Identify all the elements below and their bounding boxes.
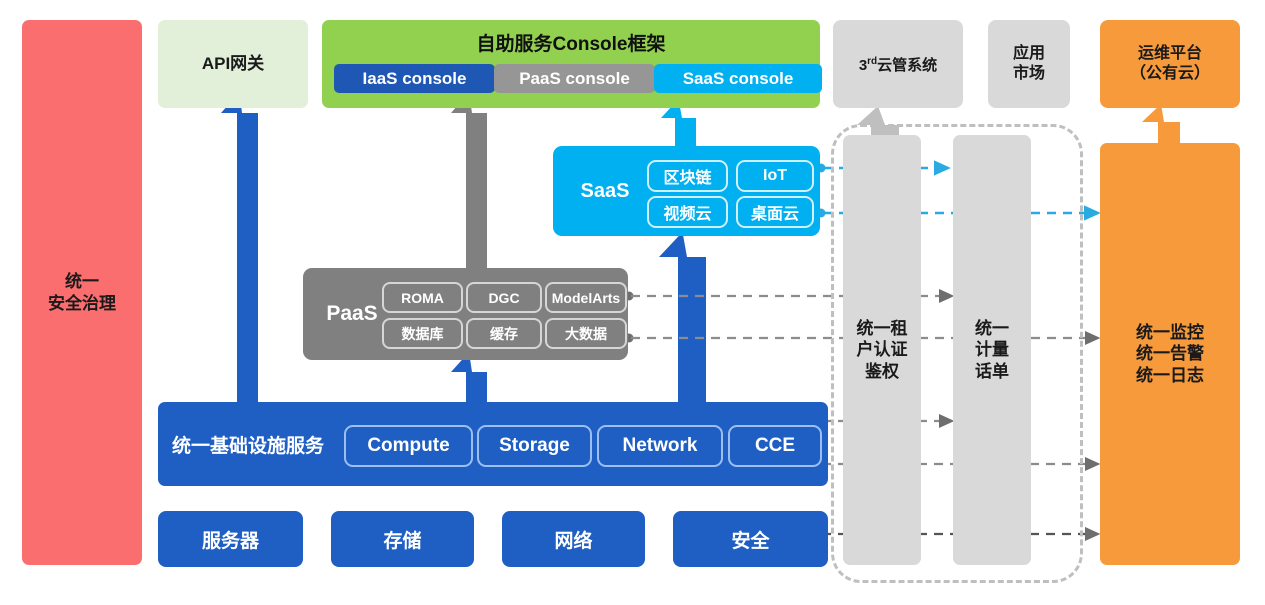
saas-chip-desktop-cloud[interactable]: 桌面云 <box>736 196 814 228</box>
api-gateway-box: API网关 <box>158 20 308 108</box>
saas-layer-block: SaaS 区块链 IoT 视频云 桌面云 <box>553 146 820 236</box>
architecture-diagram-canvas: 统一租 户认证 鉴权 统一 计量 话单 统一 安全治理 API网关 自助服务Co… <box>0 0 1265 605</box>
infra-chip-storage[interactable]: Storage <box>477 425 592 467</box>
console-frame-title: 自助服务Console框架 <box>322 29 820 56</box>
infra-chip-network[interactable]: Network <box>597 425 723 467</box>
paas-chip-bigdata[interactable]: 大数据 <box>545 318 627 349</box>
paas-chip-roma[interactable]: ROMA <box>382 282 463 313</box>
saas-console-chip[interactable]: SaaS console <box>654 64 822 93</box>
arrow-infra-to-saas <box>659 232 706 402</box>
resource-box-security[interactable]: 安全 <box>673 511 828 567</box>
third-party-cloud-management-box: 3rd云管系统 <box>833 20 963 108</box>
app-market-box: 应用 市场 <box>988 20 1070 108</box>
ops-platform-box: 运维平台 （公有云） <box>1100 20 1240 108</box>
infra-chip-compute[interactable]: Compute <box>344 425 473 467</box>
iaas-console-chip[interactable]: IaaS console <box>334 64 495 93</box>
paas-chip-dgc[interactable]: DGC <box>466 282 542 313</box>
resource-box-storage[interactable]: 存储 <box>331 511 474 567</box>
saas-layer-title: SaaS <box>565 146 645 236</box>
paas-layer-title: PaaS <box>311 268 393 360</box>
third-party-label: 3rd云管系统 <box>859 54 937 75</box>
pillar-auth-label: 统一租 户认证 鉴权 <box>857 318 908 382</box>
paas-chip-cache[interactable]: 缓存 <box>466 318 542 349</box>
paas-chip-modelarts[interactable]: ModelArts <box>545 282 627 313</box>
resource-box-network[interactable]: 网络 <box>502 511 645 567</box>
saas-chip-blockchain[interactable]: 区块链 <box>647 160 728 192</box>
self-service-console-frame: 自助服务Console框架 IaaS console PaaS console … <box>322 20 820 108</box>
api-gateway-label: API网关 <box>202 53 264 74</box>
paas-layer-block: PaaS ROMA DGC ModelArts 数据库 缓存 大数据 <box>303 268 628 360</box>
unified-infrastructure-service-bar: 统一基础设施服务 Compute Storage Network CCE <box>158 402 828 486</box>
pillar-unified-tenant-auth: 统一租 户认证 鉴权 <box>843 135 921 565</box>
ops-monitoring-label: 统一监控 统一告警 统一日志 <box>1136 322 1204 386</box>
saas-chip-iot[interactable]: IoT <box>736 160 814 192</box>
paas-console-chip[interactable]: PaaS console <box>494 64 655 93</box>
ops-monitoring-panel: 统一监控 统一告警 统一日志 <box>1100 143 1240 565</box>
unified-security-governance-panel: 统一 安全治理 <box>22 20 142 565</box>
pillar-meter-label: 统一 计量 话单 <box>975 318 1009 382</box>
resource-box-server[interactable]: 服务器 <box>158 511 303 567</box>
arrow-infra-to-api-gateway <box>221 92 258 402</box>
unified-security-governance-label: 统一 安全治理 <box>48 271 116 314</box>
infrastructure-title: 统一基础设施服务 <box>172 402 324 486</box>
paas-chip-database[interactable]: 数据库 <box>382 318 463 349</box>
pillar-unified-metering: 统一 计量 话单 <box>953 135 1031 565</box>
ops-platform-label: 运维平台 （公有云） <box>1130 44 1210 84</box>
arrow-ops-monitor-to-ops-platform <box>1142 104 1180 143</box>
infra-chip-cce[interactable]: CCE <box>728 425 822 467</box>
saas-chip-video-cloud[interactable]: 视频云 <box>647 196 728 228</box>
arrow-paas-to-console <box>451 92 487 268</box>
app-market-label: 应用 市场 <box>1013 44 1045 84</box>
